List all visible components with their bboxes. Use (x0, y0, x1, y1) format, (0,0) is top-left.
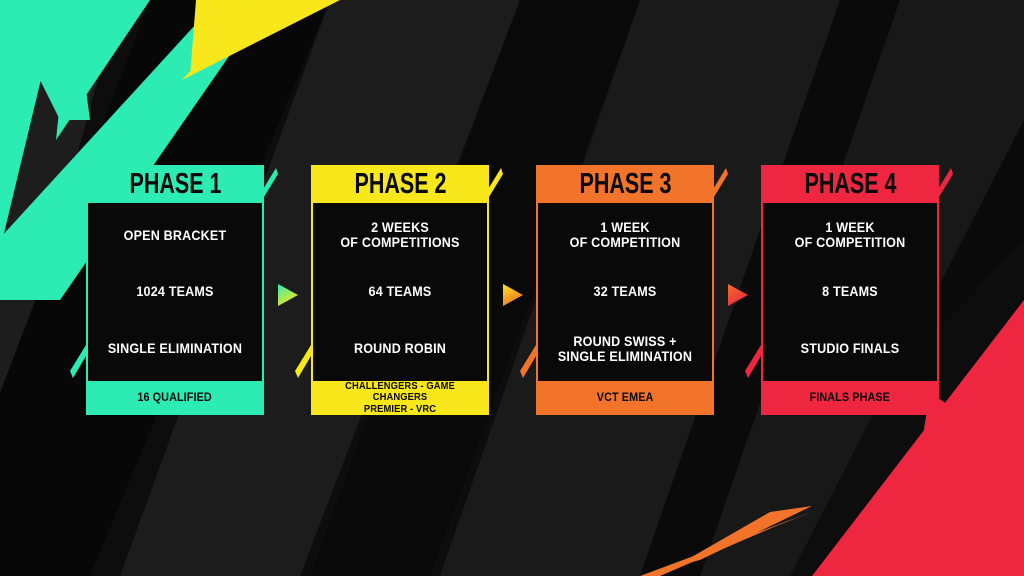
phase-4-header: PHASE 4 (761, 165, 939, 203)
phase-4-detail-3: STUDIO FINALS (775, 320, 926, 377)
phase-card-2[interactable]: PHASE 2 2 WEEKS OF COMPETITIONS 64 TEAMS… (311, 165, 489, 415)
phase-1-detail-2: 1024 TEAMS (100, 264, 251, 321)
phase-card-4[interactable]: PHASE 4 1 WEEK OF COMPETITION 8 TEAMS ST… (761, 165, 939, 415)
phase-3-title: PHASE 3 (579, 167, 671, 201)
phase-card-3[interactable]: PHASE 3 1 WEEK OF COMPETITION 32 TEAMS R… (536, 165, 714, 415)
phase-4-detail-1: 1 WEEK OF COMPETITION (775, 207, 926, 264)
phase-2-body: 2 WEEKS OF COMPETITIONS 64 TEAMS ROUND R… (311, 203, 489, 381)
phase-2-title: PHASE 2 (354, 167, 446, 201)
phase-2-footer-label: CHALLENGERS - GAME CHANGERS PREMIER - VR… (320, 381, 480, 415)
arrow-phase-3-to-4-icon (724, 282, 752, 308)
phase-4-title: PHASE 4 (804, 167, 896, 201)
phase-2-header: PHASE 2 (311, 165, 489, 203)
phase-1-body: OPEN BRACKET 1024 TEAMS SINGLE ELIMINATI… (86, 203, 264, 381)
phase-2-detail-1: 2 WEEKS OF COMPETITIONS (325, 207, 476, 264)
phase-cards-row: PHASE 1 OPEN BRACKET 1024 TEAMS SINGLE E… (0, 0, 1024, 576)
phase-1-detail-1: OPEN BRACKET (100, 207, 251, 264)
phase-3-footer-label: VCT EMEA (597, 392, 654, 405)
phase-3-body: 1 WEEK OF COMPETITION 32 TEAMS ROUND SWI… (536, 203, 714, 381)
phase-2-detail-3: ROUND ROBIN (325, 320, 476, 377)
arrow-phase-1-to-2-icon (274, 282, 302, 308)
phase-3-footer: VCT EMEA (536, 381, 714, 415)
infographic-canvas: PHASE 1 OPEN BRACKET 1024 TEAMS SINGLE E… (0, 0, 1024, 576)
phase-1-header: PHASE 1 (86, 165, 264, 203)
phase-4-body: 1 WEEK OF COMPETITION 8 TEAMS STUDIO FIN… (761, 203, 939, 381)
phase-card-1[interactable]: PHASE 1 OPEN BRACKET 1024 TEAMS SINGLE E… (86, 165, 264, 415)
phase-3-detail-1: 1 WEEK OF COMPETITION (550, 207, 701, 264)
arrow-phase-2-to-3-icon (499, 282, 527, 308)
phase-3-header: PHASE 3 (536, 165, 714, 203)
phase-2-detail-2: 64 TEAMS (325, 264, 476, 321)
phase-2-footer: CHALLENGERS - GAME CHANGERS PREMIER - VR… (311, 381, 489, 415)
phase-1-title: PHASE 1 (129, 167, 221, 201)
phase-1-footer-label: 16 QUALIFIED (138, 392, 212, 405)
phase-3-detail-3: ROUND SWISS + SINGLE ELIMINATION (550, 320, 701, 377)
phase-4-footer-label: FINALS PHASE (810, 392, 890, 405)
phase-4-detail-2: 8 TEAMS (775, 264, 926, 321)
phase-1-detail-3: SINGLE ELIMINATION (100, 320, 251, 377)
phase-4-footer: FINALS PHASE (761, 381, 939, 415)
phase-1-footer: 16 QUALIFIED (86, 381, 264, 415)
phase-3-detail-2: 32 TEAMS (550, 264, 701, 321)
